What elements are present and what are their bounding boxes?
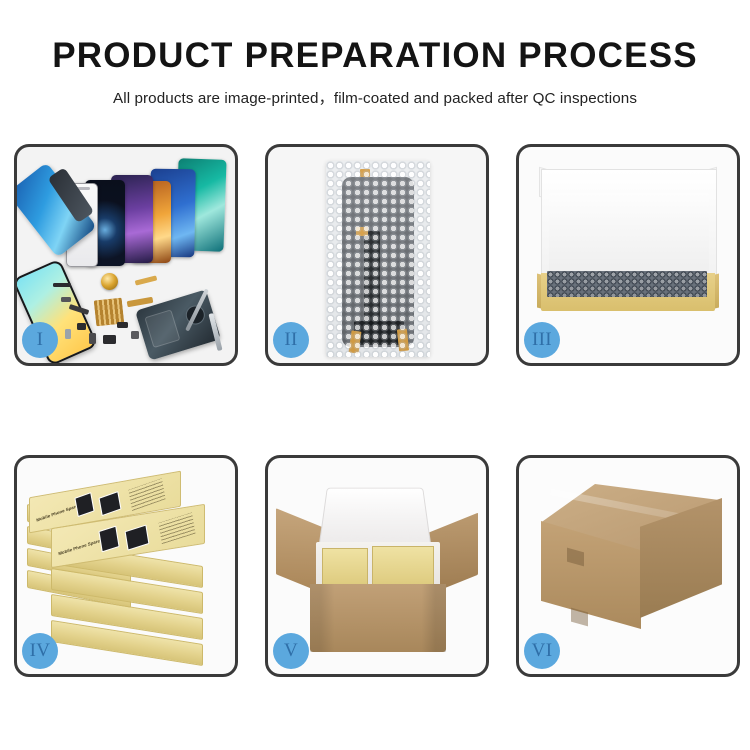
bubble-wrapped-contents (547, 271, 707, 297)
foam-lid-open (318, 488, 431, 547)
step-badge-5: V (273, 633, 309, 669)
chip-part-2 (117, 322, 128, 328)
tape-piece-4 (397, 329, 409, 352)
carton-body-shading (310, 584, 446, 652)
process-step-panel-5[interactable]: V (265, 455, 489, 677)
step-badge-2: II (273, 322, 309, 358)
page-subtitle: All products are image-printed，film-coat… (0, 86, 750, 108)
tape-piece-2 (356, 227, 368, 236)
battery-strip-part (53, 283, 71, 287)
white-foam-sheet (549, 193, 709, 273)
chip-part-5 (65, 329, 71, 339)
box-window-back-2 (99, 491, 122, 516)
step-badge-4: IV (22, 633, 58, 669)
box-window-front-1 (98, 526, 119, 553)
chip-part-1 (77, 323, 86, 330)
process-step-grid: I II III (14, 144, 740, 677)
page-header: PRODUCT PREPARATION PROCESS All products… (0, 0, 750, 108)
chip-part-6 (131, 331, 139, 339)
box-spec-lines-front (158, 512, 195, 544)
page-title: PRODUCT PREPARATION PROCESS (0, 38, 750, 75)
box-spec-lines-back (128, 478, 165, 511)
step-badge-1: I (22, 322, 58, 358)
speaker-coil-part (101, 273, 118, 290)
flex-cable-part-1 (135, 275, 158, 285)
process-step-panel-3[interactable]: III (516, 144, 740, 366)
bubble-wrap-bag (326, 161, 430, 357)
step-badge-6: VI (524, 633, 560, 669)
process-step-panel-1[interactable]: I (14, 144, 238, 366)
chip-part-4 (103, 335, 116, 344)
packed-yellow-box-2 (372, 546, 434, 588)
tape-piece-3 (349, 330, 362, 353)
box-window-back-1 (74, 492, 94, 517)
process-step-panel-4[interactable]: Mobile Phone Spare Parts Mobile Phone Sp… (14, 455, 238, 677)
chip-part-3 (89, 333, 96, 344)
chip-part-7 (61, 297, 71, 302)
step-badge-3: III (524, 322, 560, 358)
tape-piece-1 (360, 169, 370, 177)
box-window-front-2 (125, 525, 150, 551)
packed-yellow-box-1 (322, 548, 368, 588)
wrapped-flex-cable (364, 231, 380, 325)
process-step-panel-6[interactable]: VI (516, 455, 740, 677)
process-step-panel-2[interactable]: II (265, 144, 489, 366)
